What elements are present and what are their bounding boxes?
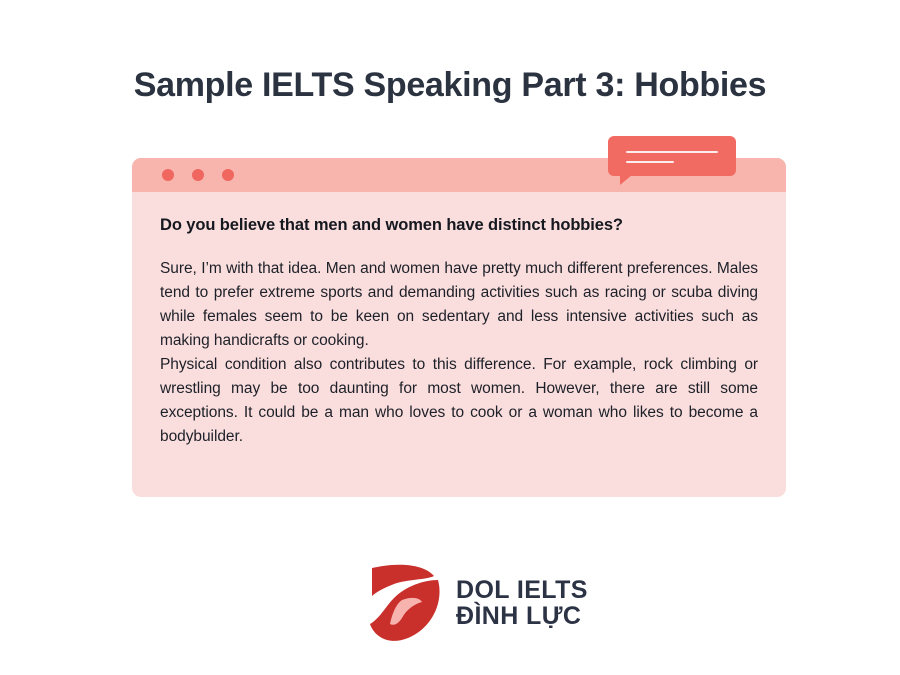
- question-answer-card: Do you believe that men and women have d…: [132, 158, 786, 497]
- answer-paragraph-1: Sure, I’m with that idea. Men and women …: [160, 257, 758, 353]
- brand-logo-line-2: ĐÌNH LỰC: [456, 603, 588, 629]
- brand-logo-text: DOL IELTS ĐÌNH LỰC: [456, 577, 588, 629]
- question-text: Do you believe that men and women have d…: [160, 216, 758, 235]
- window-dots-group: [162, 169, 234, 181]
- window-dot-3-icon: [222, 169, 234, 181]
- page-title: Sample IELTS Speaking Part 3: Hobbies: [0, 66, 900, 105]
- speech-bubble-line-2: [626, 161, 674, 163]
- speech-bubble-icon: [608, 136, 736, 176]
- window-dot-2-icon: [192, 169, 204, 181]
- window-dot-1-icon: [162, 169, 174, 181]
- dol-leaf-logo-icon: [368, 562, 442, 644]
- speech-bubble-tail: [620, 175, 632, 185]
- brand-logo-line-1: DOL IELTS: [456, 577, 588, 603]
- speech-bubble-line-1: [626, 151, 718, 153]
- answer-paragraph-2: Physical condition also contributes to t…: [160, 353, 758, 449]
- card-body: Do you believe that men and women have d…: [132, 192, 786, 497]
- brand-logo: DOL IELTS ĐÌNH LỰC: [368, 562, 588, 644]
